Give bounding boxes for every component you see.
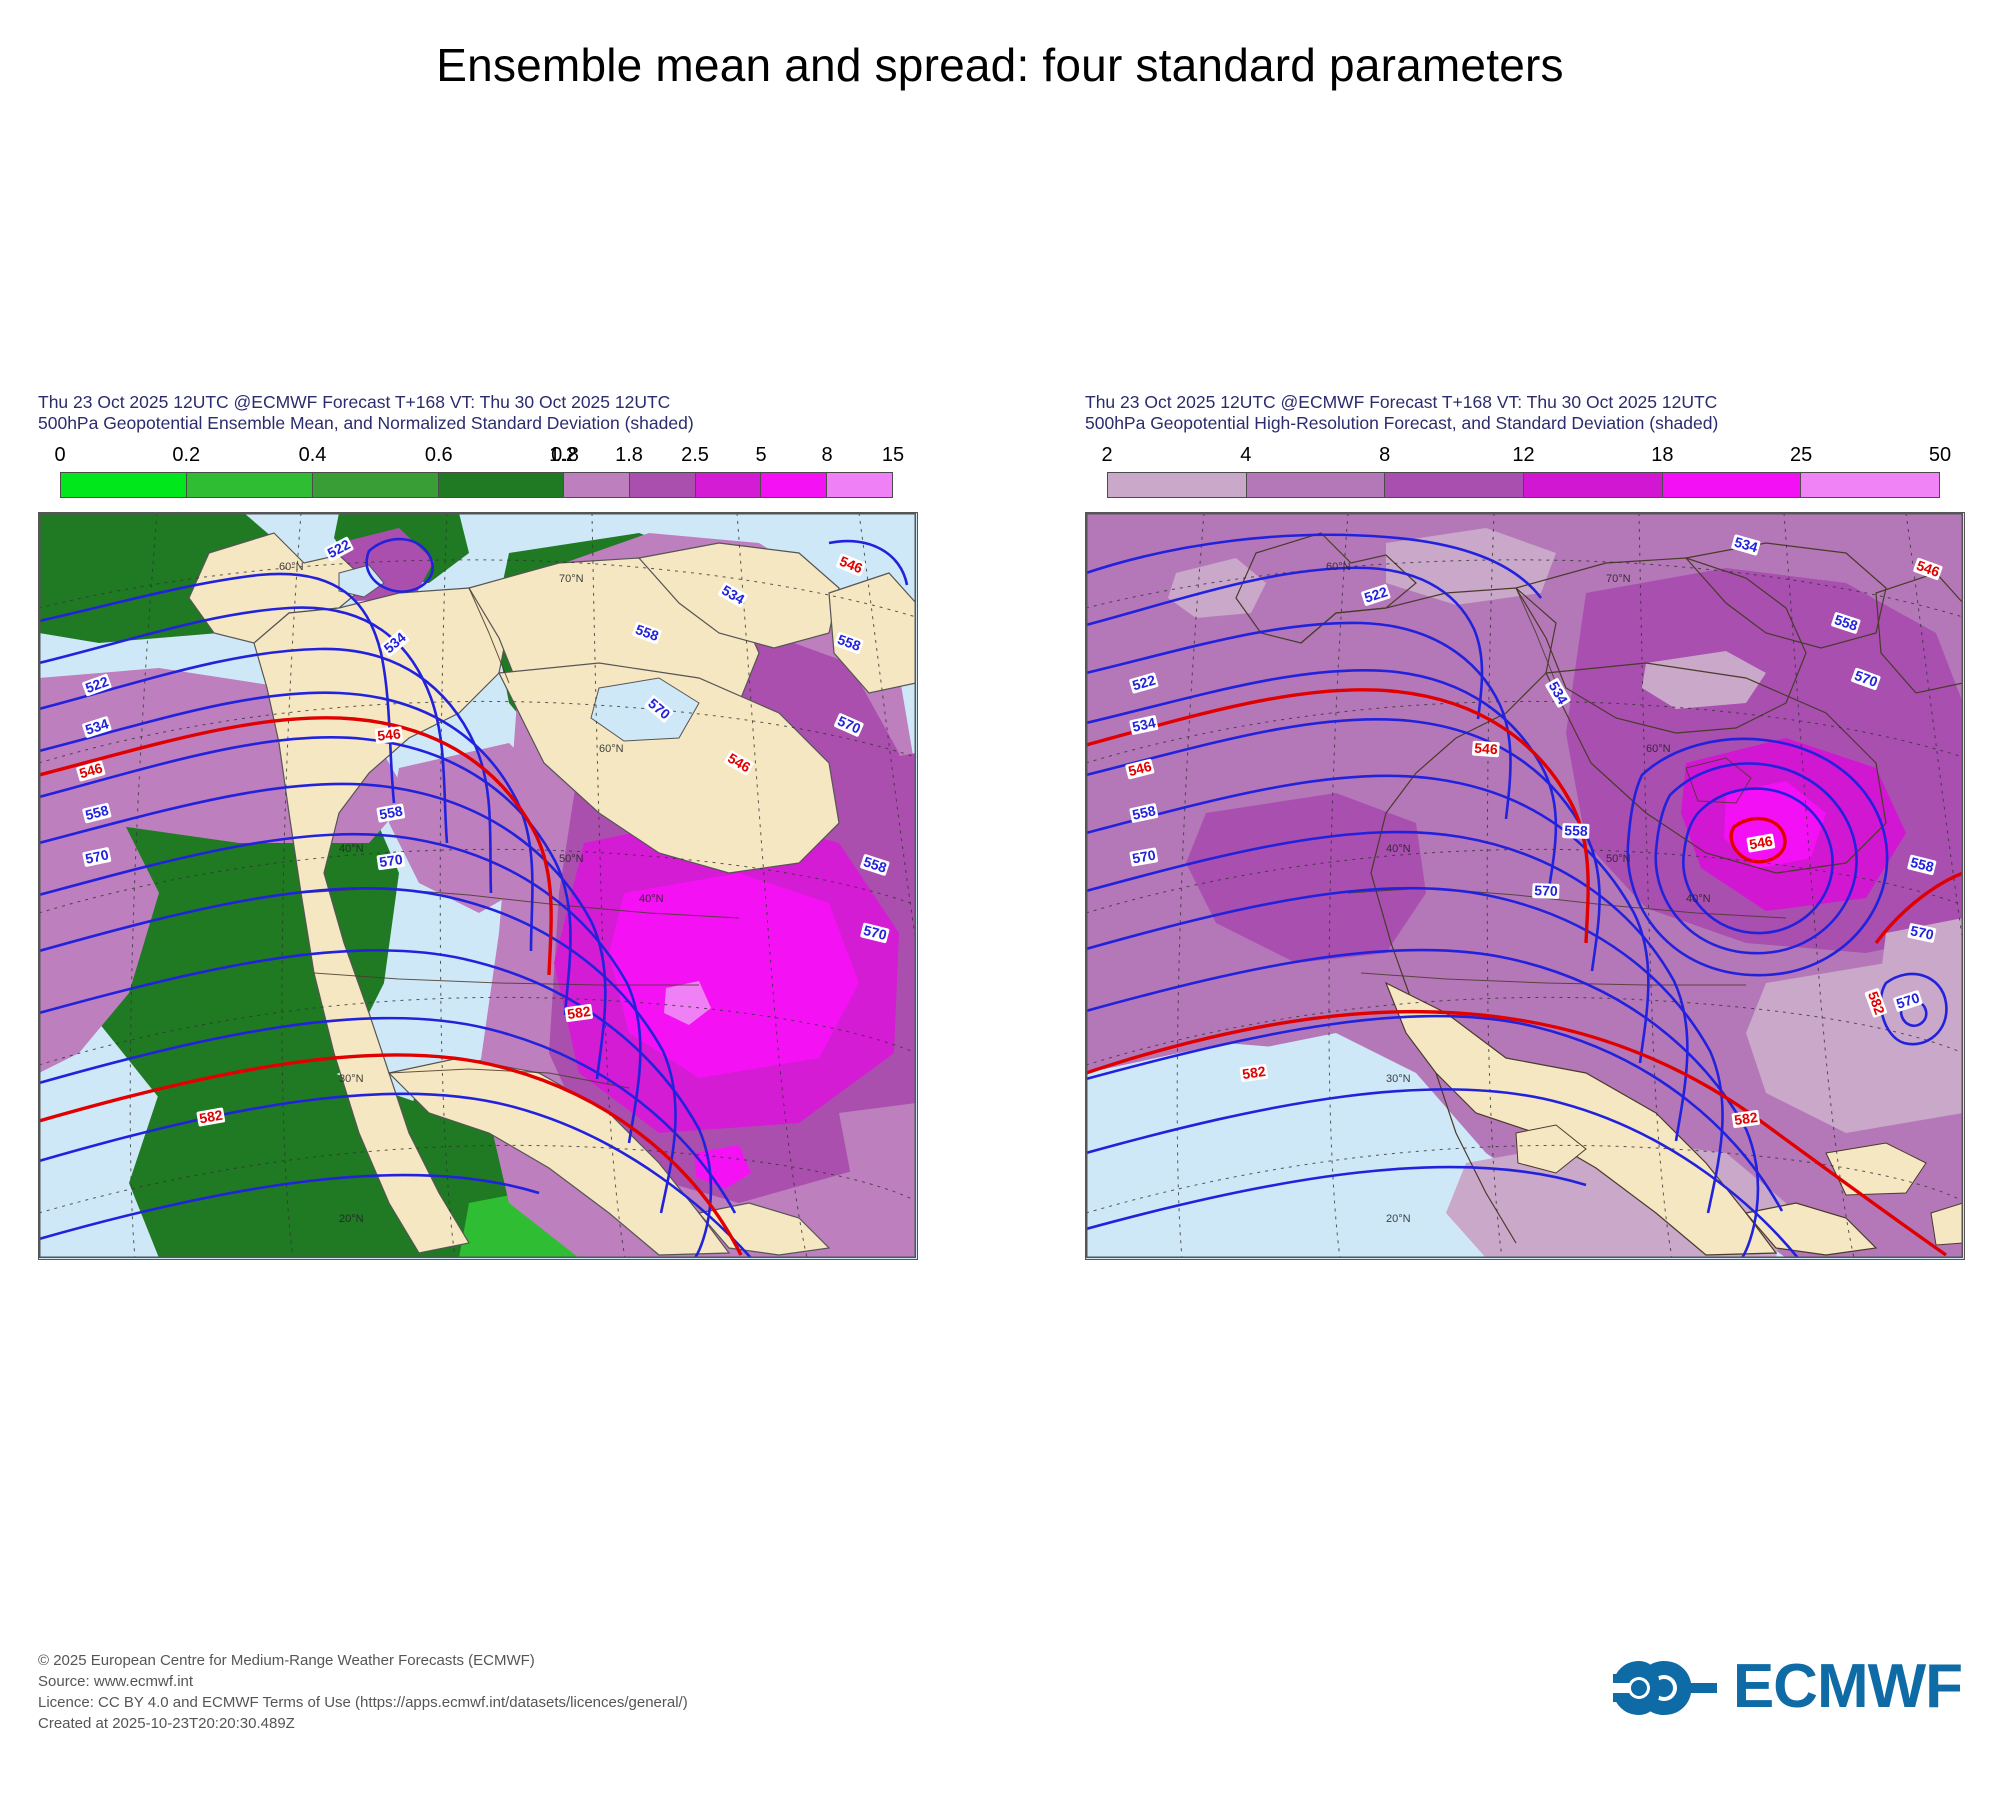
colorbars-ensemble-mean: 00.20.40.60.8 1.21.82.55815 <box>38 444 918 506</box>
colorbar-magenta-tick-5: 15 <box>882 444 904 467</box>
footer-licence: Licence: CC BY 4.0 and ECMWF Terms of Us… <box>38 1692 688 1713</box>
panel-header-high-resolution: Thu 23 Oct 2025 12UTC @ECMWF Forecast T+… <box>1085 392 1965 434</box>
graticule-label-1: 70°N <box>559 573 584 585</box>
header-line-2: 500hPa Geopotential High-Resolution Fore… <box>1085 413 1965 434</box>
colorbar-magenta-tick-4: 8 <box>821 444 832 467</box>
contour-label-546-9: 546 <box>375 726 404 744</box>
graticule-label-5: 30°N <box>1386 1073 1411 1085</box>
colorbar-stddev-tick-2: 8 <box>1379 444 1390 467</box>
colorbar-magenta-tick-2: 2.5 <box>681 444 709 467</box>
colorbar-low-spread-green[interactable] <box>60 472 565 498</box>
footer-source: Source: www.ecmwf.int <box>38 1671 688 1692</box>
footer-copyright: © 2025 European Centre for Medium-Range … <box>38 1650 688 1671</box>
ecmwf-wordmark: ECMWF <box>1733 1656 1962 1718</box>
colorbar-stddev-tick-6: 50 <box>1929 444 1951 467</box>
footer: © 2025 European Centre for Medium-Range … <box>38 1650 688 1734</box>
colorbar-magenta-swatch-3[interactable] <box>761 473 827 497</box>
colorbars-high-resolution: 24812182550 <box>1085 444 1965 506</box>
colorbar-stddev-swatch-4[interactable] <box>1663 473 1802 497</box>
graticule-label-2: 60°N <box>1646 743 1671 755</box>
colorbar-green-tick-0: 0 <box>54 444 65 467</box>
colorbar-stddev-swatch-2[interactable] <box>1385 473 1524 497</box>
page-title: Ensemble mean and spread: four standard … <box>0 38 2000 92</box>
colorbar-green-swatch-3[interactable] <box>439 473 564 497</box>
graticule-label-0: 60°N <box>1326 561 1351 573</box>
contour-label-546-9: 546 <box>1472 741 1500 758</box>
colorbar-green-swatch-1[interactable] <box>187 473 313 497</box>
colorbar-standard-deviation-ticks: 24812182550 <box>1107 444 1940 470</box>
contour-label-570-11: 570 <box>1532 883 1560 899</box>
colorbar-stddev-tick-1: 4 <box>1240 444 1251 467</box>
graticule-label-0: 60°N <box>279 561 304 573</box>
graticule-label-4: 40°N <box>1386 843 1411 855</box>
colorbar-stddev-swatch-3[interactable] <box>1524 473 1663 497</box>
graticule-label-7: 40°N <box>639 893 664 905</box>
colorbar-magenta-swatch-4[interactable] <box>827 473 892 497</box>
panel-ensemble-mean: Thu 23 Oct 2025 12UTC @ECMWF Forecast T+… <box>38 392 918 1260</box>
header-line-2: 500hPa Geopotential Ensemble Mean, and N… <box>38 413 918 434</box>
colorbar-stddev-swatch-0[interactable] <box>1108 473 1247 497</box>
colorbar-stddev-tick-5: 25 <box>1790 444 1812 467</box>
colorbar-magenta-tick-3: 5 <box>755 444 766 467</box>
colorbar-magenta-tick-0: 1.2 <box>549 444 577 467</box>
graticule-label-1: 70°N <box>1606 573 1631 585</box>
graticule-label-3: 50°N <box>559 853 584 865</box>
header-line-1: Thu 23 Oct 2025 12UTC @ECMWF Forecast T+… <box>1085 392 1965 413</box>
graticule-label-4: 40°N <box>339 843 364 855</box>
graticule-label-2: 60°N <box>599 743 624 755</box>
graticule-label-6: 20°N <box>1386 1213 1411 1225</box>
map-high-resolution-forecast[interactable]: 180°W160°W140°W120°W100°W80°W60°W120°W10… <box>1085 512 1965 1260</box>
colorbar-magenta-swatch-0[interactable] <box>564 473 630 497</box>
colorbar-green-tick-2: 0.4 <box>299 444 327 467</box>
colorbar-green-tick-3: 0.6 <box>425 444 453 467</box>
colorbar-high-spread-magenta[interactable] <box>563 472 893 498</box>
colorbar-magenta-swatch-2[interactable] <box>696 473 762 497</box>
map-ensemble-mean[interactable]: 180°W160°W140°W120°W100°W80°W60°W120°W10… <box>38 512 918 1260</box>
colorbar-low-spread-ticks: 00.20.40.60.8 <box>60 444 565 470</box>
colorbar-stddev-tick-4: 18 <box>1651 444 1673 467</box>
colorbar-green-tick-1: 0.2 <box>172 444 200 467</box>
colorbar-standard-deviation[interactable] <box>1107 472 1940 498</box>
graticule-label-7: 40°N <box>1686 893 1711 905</box>
colorbar-high-spread-ticks: 1.21.82.55815 <box>563 444 893 470</box>
graticule-label-5: 30°N <box>339 1073 364 1085</box>
colorbar-magenta-tick-1: 1.8 <box>615 444 643 467</box>
colorbar-stddev-swatch-5[interactable] <box>1801 473 1939 497</box>
contour-label-558-10: 558 <box>1562 823 1590 839</box>
panel-high-resolution-forecast: Thu 23 Oct 2025 12UTC @ECMWF Forecast T+… <box>1085 392 1965 1260</box>
panel-header-ensemble-mean: Thu 23 Oct 2025 12UTC @ECMWF Forecast T+… <box>38 392 918 434</box>
footer-created-at: Created at 2025-10-23T20:20:30.489Z <box>38 1713 688 1734</box>
ecmwf-logo: ECMWF <box>1605 1655 1962 1719</box>
colorbar-stddev-tick-3: 12 <box>1512 444 1534 467</box>
colorbar-green-swatch-2[interactable] <box>313 473 439 497</box>
ecmwf-cloud-icon <box>1605 1655 1723 1719</box>
colorbar-stddev-swatch-1[interactable] <box>1247 473 1386 497</box>
graticule-label-3: 50°N <box>1606 853 1631 865</box>
colorbar-stddev-tick-0: 2 <box>1101 444 1112 467</box>
colorbar-green-swatch-0[interactable] <box>61 473 187 497</box>
graticule-label-6: 20°N <box>339 1213 364 1225</box>
colorbar-magenta-swatch-1[interactable] <box>630 473 696 497</box>
header-line-1: Thu 23 Oct 2025 12UTC @ECMWF Forecast T+… <box>38 392 918 413</box>
